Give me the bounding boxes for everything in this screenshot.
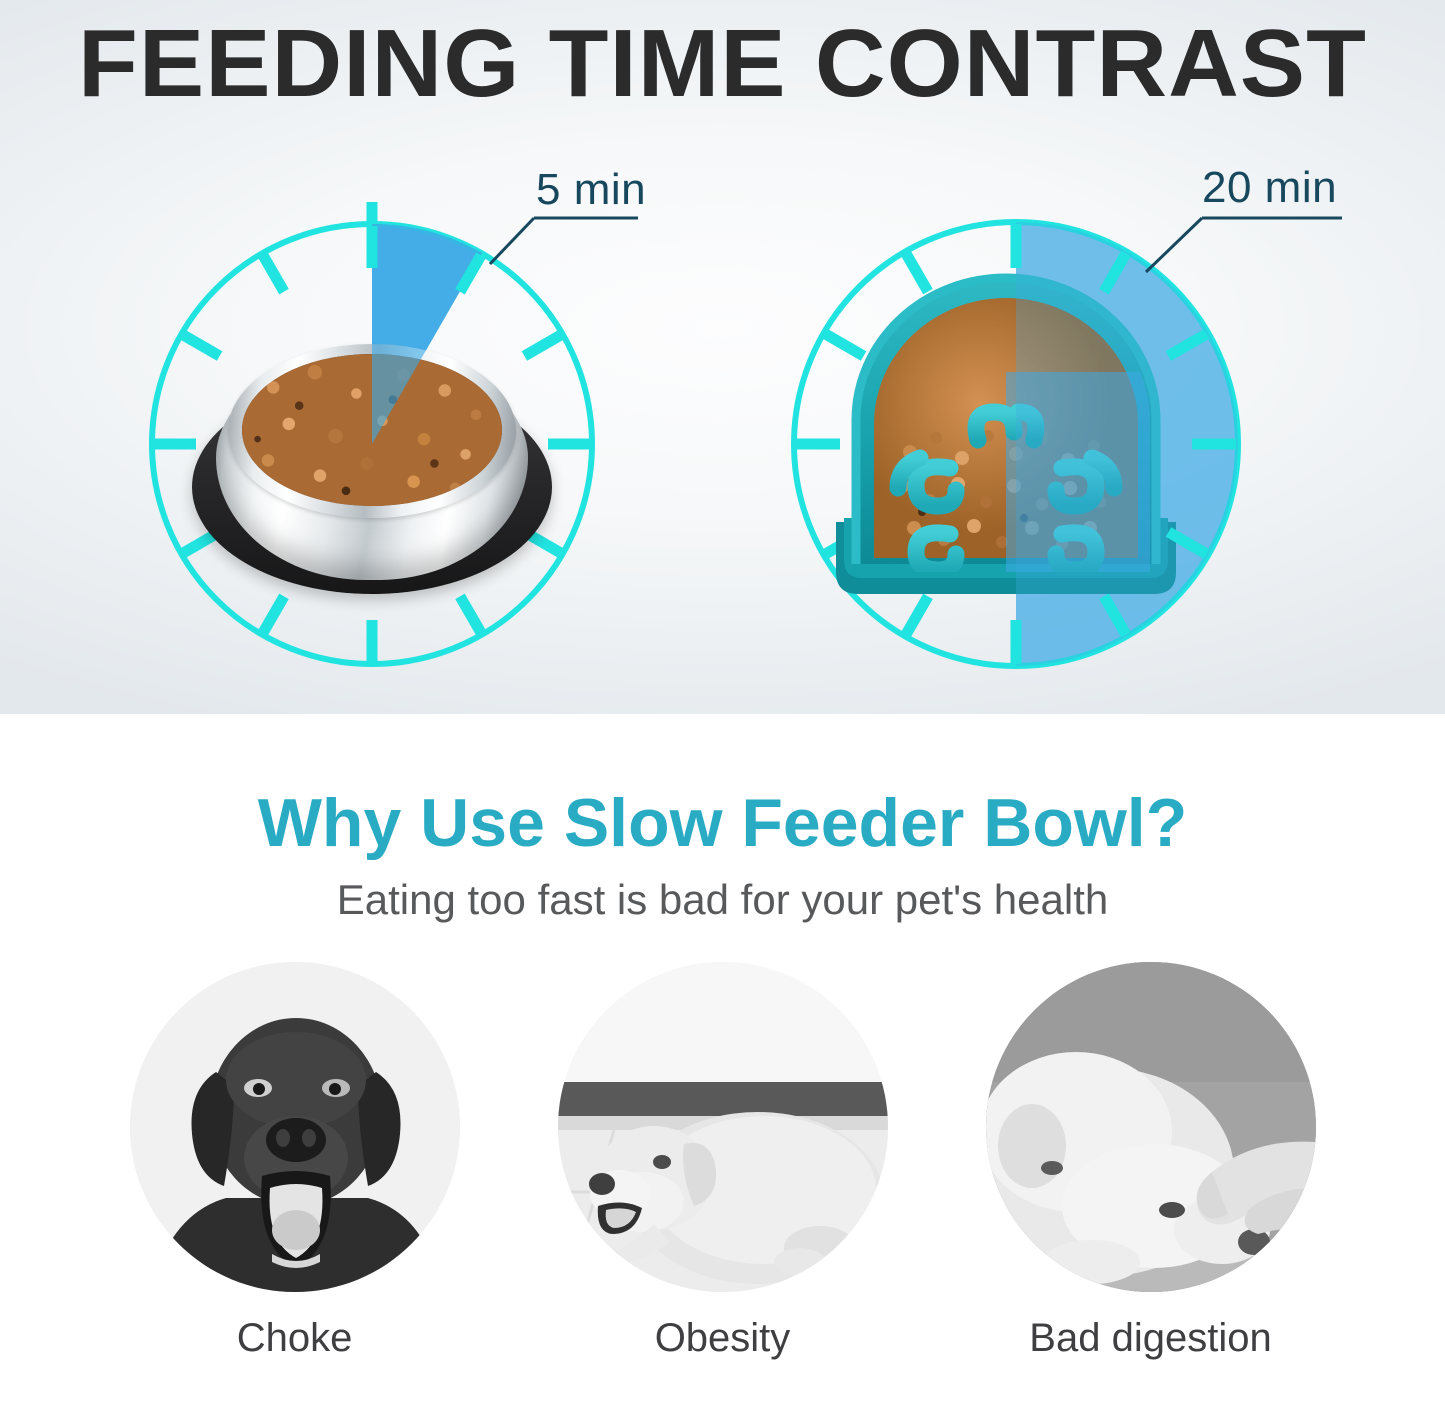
card-obesity: Obesity xyxy=(551,962,895,1382)
caption-bad-digestion: Bad digestion xyxy=(1029,1316,1271,1361)
caption-obesity: Obesity xyxy=(655,1316,791,1361)
leader-line-20min xyxy=(1090,168,1360,278)
photo-overweight-labrador xyxy=(558,962,888,1292)
photo-black-labrador-open-mouth xyxy=(130,962,460,1292)
card-choke: Choke xyxy=(123,962,467,1382)
page-title: FEEDING TIME CONTRAST xyxy=(0,16,1445,112)
feeding-time-panel: FEEDING TIME CONTRAST xyxy=(0,0,1445,714)
caption-choke: Choke xyxy=(237,1316,353,1361)
card-bad-digestion: Bad digestion xyxy=(979,962,1323,1382)
why-slow-feeder-panel: Why Use Slow Feeder Bowl? Eating too fas… xyxy=(0,714,1445,1411)
section-heading: Why Use Slow Feeder Bowl? xyxy=(0,784,1445,862)
leader-line-5min xyxy=(430,170,670,275)
photo-white-dog-being-petted xyxy=(986,962,1316,1292)
stainless-steel-bowl xyxy=(186,344,558,610)
teal-slow-feeder-bowl xyxy=(810,272,1202,610)
bowl-interior xyxy=(242,354,502,506)
kibble-fill xyxy=(242,354,502,506)
section-subheading: Eating too fast is bad for your pet's he… xyxy=(0,876,1445,924)
infographic-page: FEEDING TIME CONTRAST xyxy=(0,0,1445,1411)
benefit-cards: Choke xyxy=(0,962,1445,1382)
